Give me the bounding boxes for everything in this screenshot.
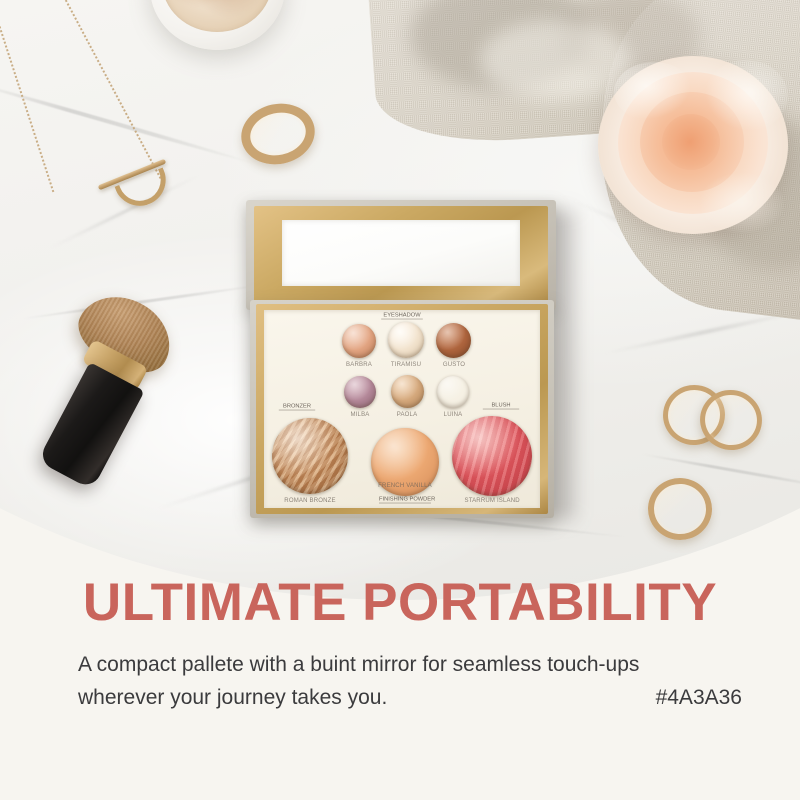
eyeshadow-pan-gusto[interactable]: [436, 323, 471, 358]
pan-label-paola: PAOLA: [385, 411, 429, 418]
pan-label-french-vanilla: FRENCH VANILLA: [378, 482, 433, 489]
rose-petal-highlight: [614, 62, 694, 122]
rose-petal-edge: [704, 60, 788, 132]
subtext-line-2: wherever your journey takes you.: [78, 681, 387, 714]
hashtag: #4A3A36: [656, 681, 742, 714]
pan-label-luina: LUINA: [431, 411, 475, 418]
eyeshadow-pan-luina[interactable]: [437, 376, 469, 408]
rose-center: [662, 114, 720, 170]
rose-petal-edge: [696, 170, 788, 236]
subtext-tagline-row: wherever your journey takes you. #4A3A36: [78, 681, 742, 714]
palette-mirror[interactable]: [282, 220, 520, 286]
eyeshadow-pan-paola[interactable]: [391, 375, 424, 408]
peach-rose: [596, 52, 796, 242]
section-label-finishing-powder: FINISHING POWDER: [379, 496, 431, 503]
blush-pan-starrum-island[interactable]: [452, 416, 532, 496]
eyeshadow-pan-milba[interactable]: [344, 376, 376, 408]
eyeshadow-pan-barbra[interactable]: [342, 324, 376, 358]
pan-label-milba: MILBA: [338, 411, 382, 418]
pan-label-roman-bronze: ROMAN BRONZE: [283, 497, 338, 504]
pan-label-barbra: BARBRA: [337, 361, 381, 368]
pan-gloss: [452, 416, 532, 496]
pan-gloss: [388, 322, 424, 358]
pan-gloss: [437, 376, 469, 408]
bronzer-pan-roman-bronze[interactable]: [272, 418, 348, 494]
pan-label-gusto: GUSTO: [432, 361, 476, 368]
footer-text-block: ULTIMATE PORTABILITY A compact pallete w…: [0, 550, 800, 800]
pan-label-tiramisu: TIRAMISU: [384, 361, 428, 368]
product-photo: EYESHADOW BARBRA TIRAMISU GUSTO: [0, 0, 800, 600]
pan-label-starrum-island: STARRUM ISLAND: [465, 497, 520, 504]
pan-gloss: [342, 324, 376, 358]
headline: ULTIMATE PORTABILITY: [0, 572, 800, 633]
pan-gloss: [436, 323, 471, 358]
subtext-block: A compact pallete with a buint mirror fo…: [78, 648, 742, 714]
section-label-bronzer: BRONZER: [279, 403, 315, 410]
makeup-palette[interactable]: EYESHADOW BARBRA TIRAMISU GUSTO: [240, 196, 570, 526]
section-label-eyeshadow: EYESHADOW: [381, 312, 423, 319]
pan-gloss: [272, 418, 348, 494]
section-label-blush: BLUSH: [483, 402, 519, 409]
product-promo-card: EYESHADOW BARBRA TIRAMISU GUSTO: [0, 0, 800, 800]
subtext-line-1: A compact pallete with a buint mirror fo…: [78, 648, 742, 681]
eyeshadow-pan-tiramisu[interactable]: [388, 322, 424, 358]
pan-gloss: [391, 375, 424, 408]
pan-gloss: [344, 376, 376, 408]
